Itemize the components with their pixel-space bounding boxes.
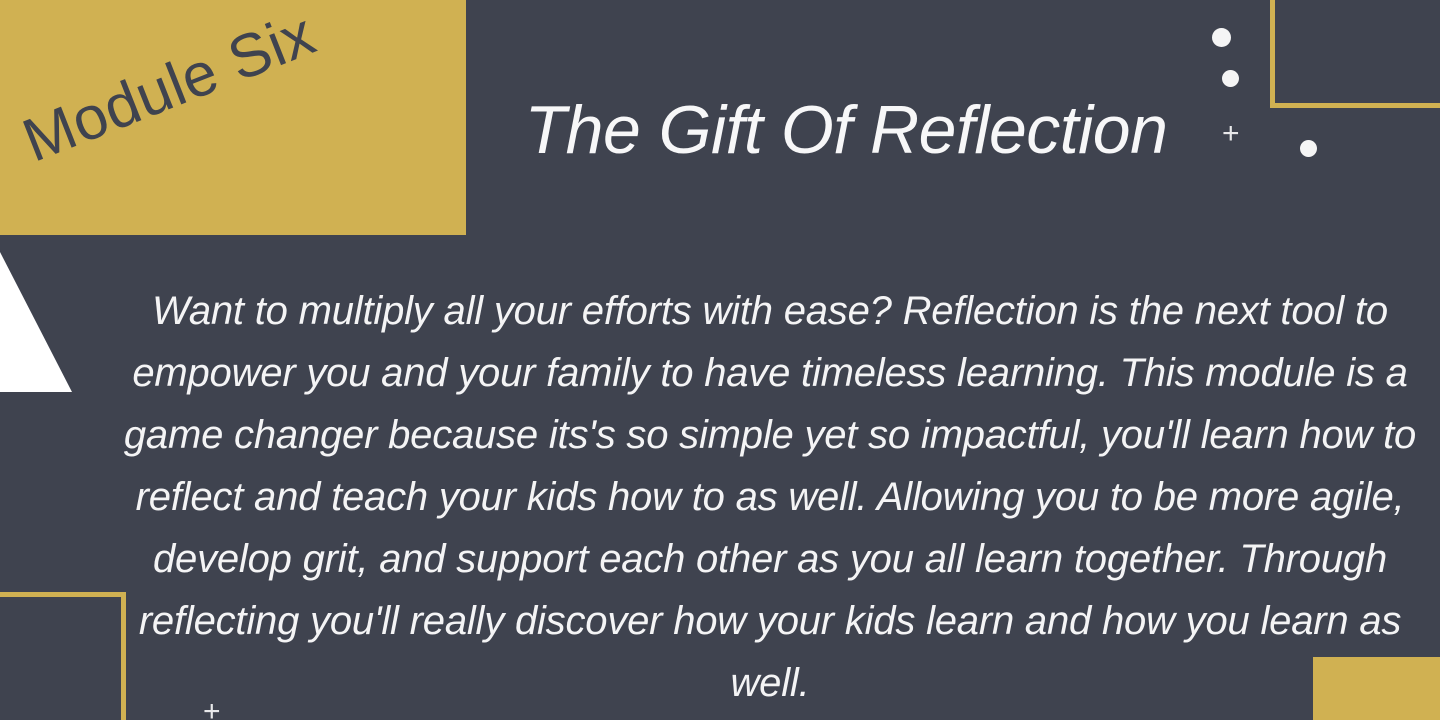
- dot-decoration-top: [1212, 28, 1231, 47]
- white-triangle-decoration: [0, 252, 72, 392]
- slide-canvas: + + Module Six The Gift Of Reflection Wa…: [0, 0, 1440, 720]
- dot-decoration-lower: [1300, 140, 1317, 157]
- body-paragraph: Want to multiply all your efforts with e…: [120, 280, 1420, 714]
- dot-decoration-middle: [1222, 70, 1239, 87]
- page-title: The Gift Of Reflection: [466, 94, 1226, 167]
- gold-frame-bottom-left: [0, 592, 126, 720]
- gold-frame-top-right: [1270, 0, 1440, 108]
